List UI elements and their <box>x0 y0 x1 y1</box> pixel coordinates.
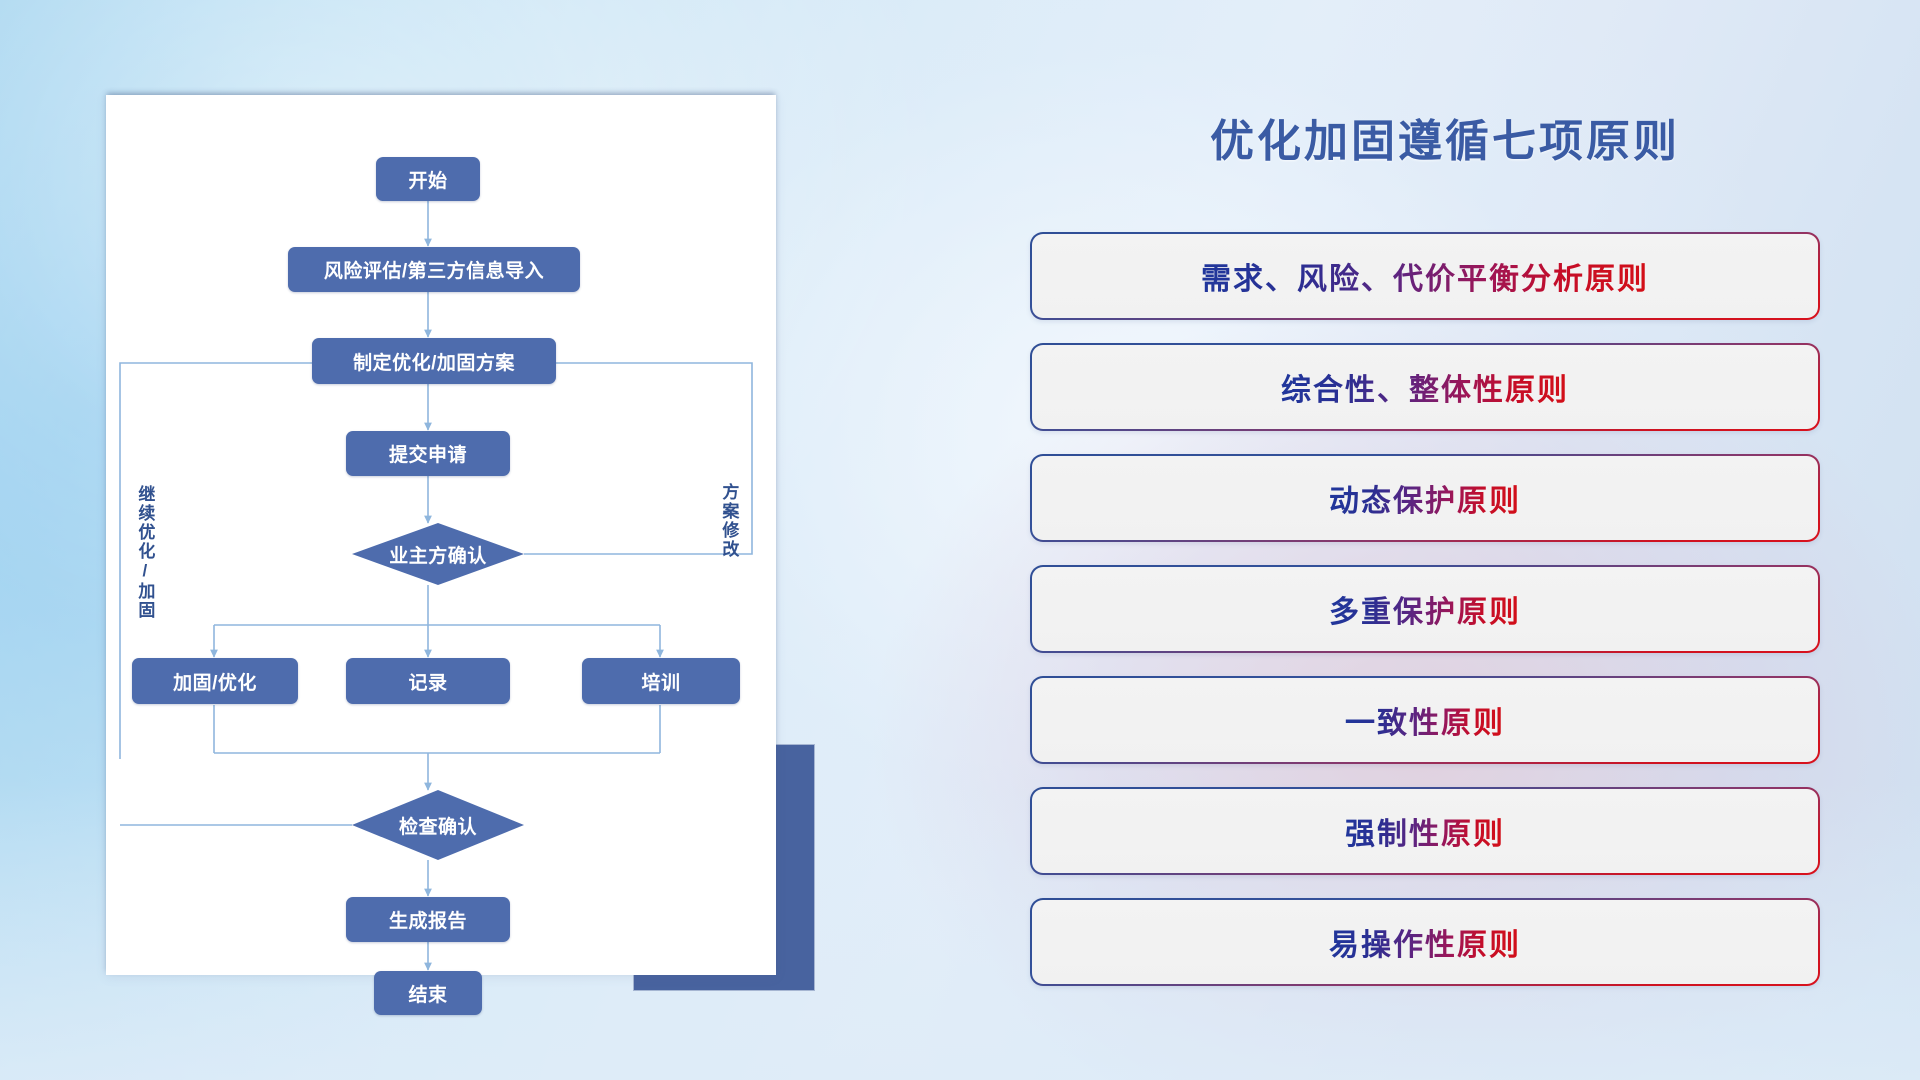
flow-node-label: 记录 <box>408 668 447 695</box>
flow-node-submit-application[interactable]: 提交申请 <box>346 431 510 476</box>
edge-label-plan-revision: 方案修改 <box>720 483 737 559</box>
flow-node-generate-report[interactable]: 生成报告 <box>346 897 510 942</box>
principle-card[interactable]: 动态保护原则 <box>1030 454 1820 542</box>
principle-label: 强制性原则 <box>1345 809 1505 853</box>
principle-label: 综合性、整体性原则 <box>1281 365 1569 409</box>
flow-node-start[interactable]: 开始 <box>376 157 480 201</box>
flow-node-reinforce-optimize[interactable]: 加固/优化 <box>132 658 298 704</box>
flow-node-label: 生成报告 <box>389 906 467 933</box>
flow-node-label: 培训 <box>641 668 680 695</box>
flow-node-end[interactable]: 结束 <box>374 971 482 1015</box>
principle-card[interactable]: 综合性、整体性原则 <box>1030 343 1820 431</box>
flow-node-training[interactable]: 培训 <box>582 658 740 704</box>
slide-canvas: 开始 风险评估/第三方信息导入 制定优化/加固方案 提交申请 业主方确认 加固/… <box>0 0 1920 1080</box>
page-title: 优化加固遵循七项原则 <box>1030 105 1860 169</box>
flow-node-label: 风险评估/第三方信息导入 <box>324 256 544 283</box>
principles-list: 需求、风险、代价平衡分析原则 综合性、整体性原则 动态保护原则 多重保护原则 一… <box>1030 232 1820 986</box>
flow-node-make-plan[interactable]: 制定优化/加固方案 <box>312 338 556 384</box>
principle-card[interactable]: 易操作性原则 <box>1030 898 1820 986</box>
flow-node-label: 结束 <box>408 980 447 1007</box>
principle-label: 易操作性原则 <box>1329 920 1521 964</box>
flow-node-risk-assessment[interactable]: 风险评估/第三方信息导入 <box>288 247 580 292</box>
principle-card[interactable]: 强制性原则 <box>1030 787 1820 875</box>
principle-card[interactable]: 多重保护原则 <box>1030 565 1820 653</box>
flow-node-label: 开始 <box>408 166 447 193</box>
principle-label: 动态保护原则 <box>1329 476 1521 520</box>
principle-label: 多重保护原则 <box>1329 587 1521 631</box>
flow-node-label: 加固/优化 <box>173 668 257 695</box>
flowchart-canvas: 开始 风险评估/第三方信息导入 制定优化/加固方案 提交申请 业主方确认 加固/… <box>106 95 776 975</box>
flow-node-label: 检查确认 <box>399 812 477 839</box>
flow-node-label: 提交申请 <box>389 440 467 467</box>
flow-node-record[interactable]: 记录 <box>346 658 510 704</box>
principle-card[interactable]: 一致性原则 <box>1030 676 1820 764</box>
flowchart-card: 开始 风险评估/第三方信息导入 制定优化/加固方案 提交申请 业主方确认 加固/… <box>106 95 776 975</box>
principle-card[interactable]: 需求、风险、代价平衡分析原则 <box>1030 232 1820 320</box>
edge-label-continue-optimize: 继续优化/加固 <box>136 485 153 620</box>
flow-node-label: 业主方确认 <box>389 541 487 568</box>
principle-label: 需求、风险、代价平衡分析原则 <box>1201 254 1649 298</box>
flow-node-label: 制定优化/加固方案 <box>353 348 515 375</box>
principle-label: 一致性原则 <box>1345 698 1505 742</box>
